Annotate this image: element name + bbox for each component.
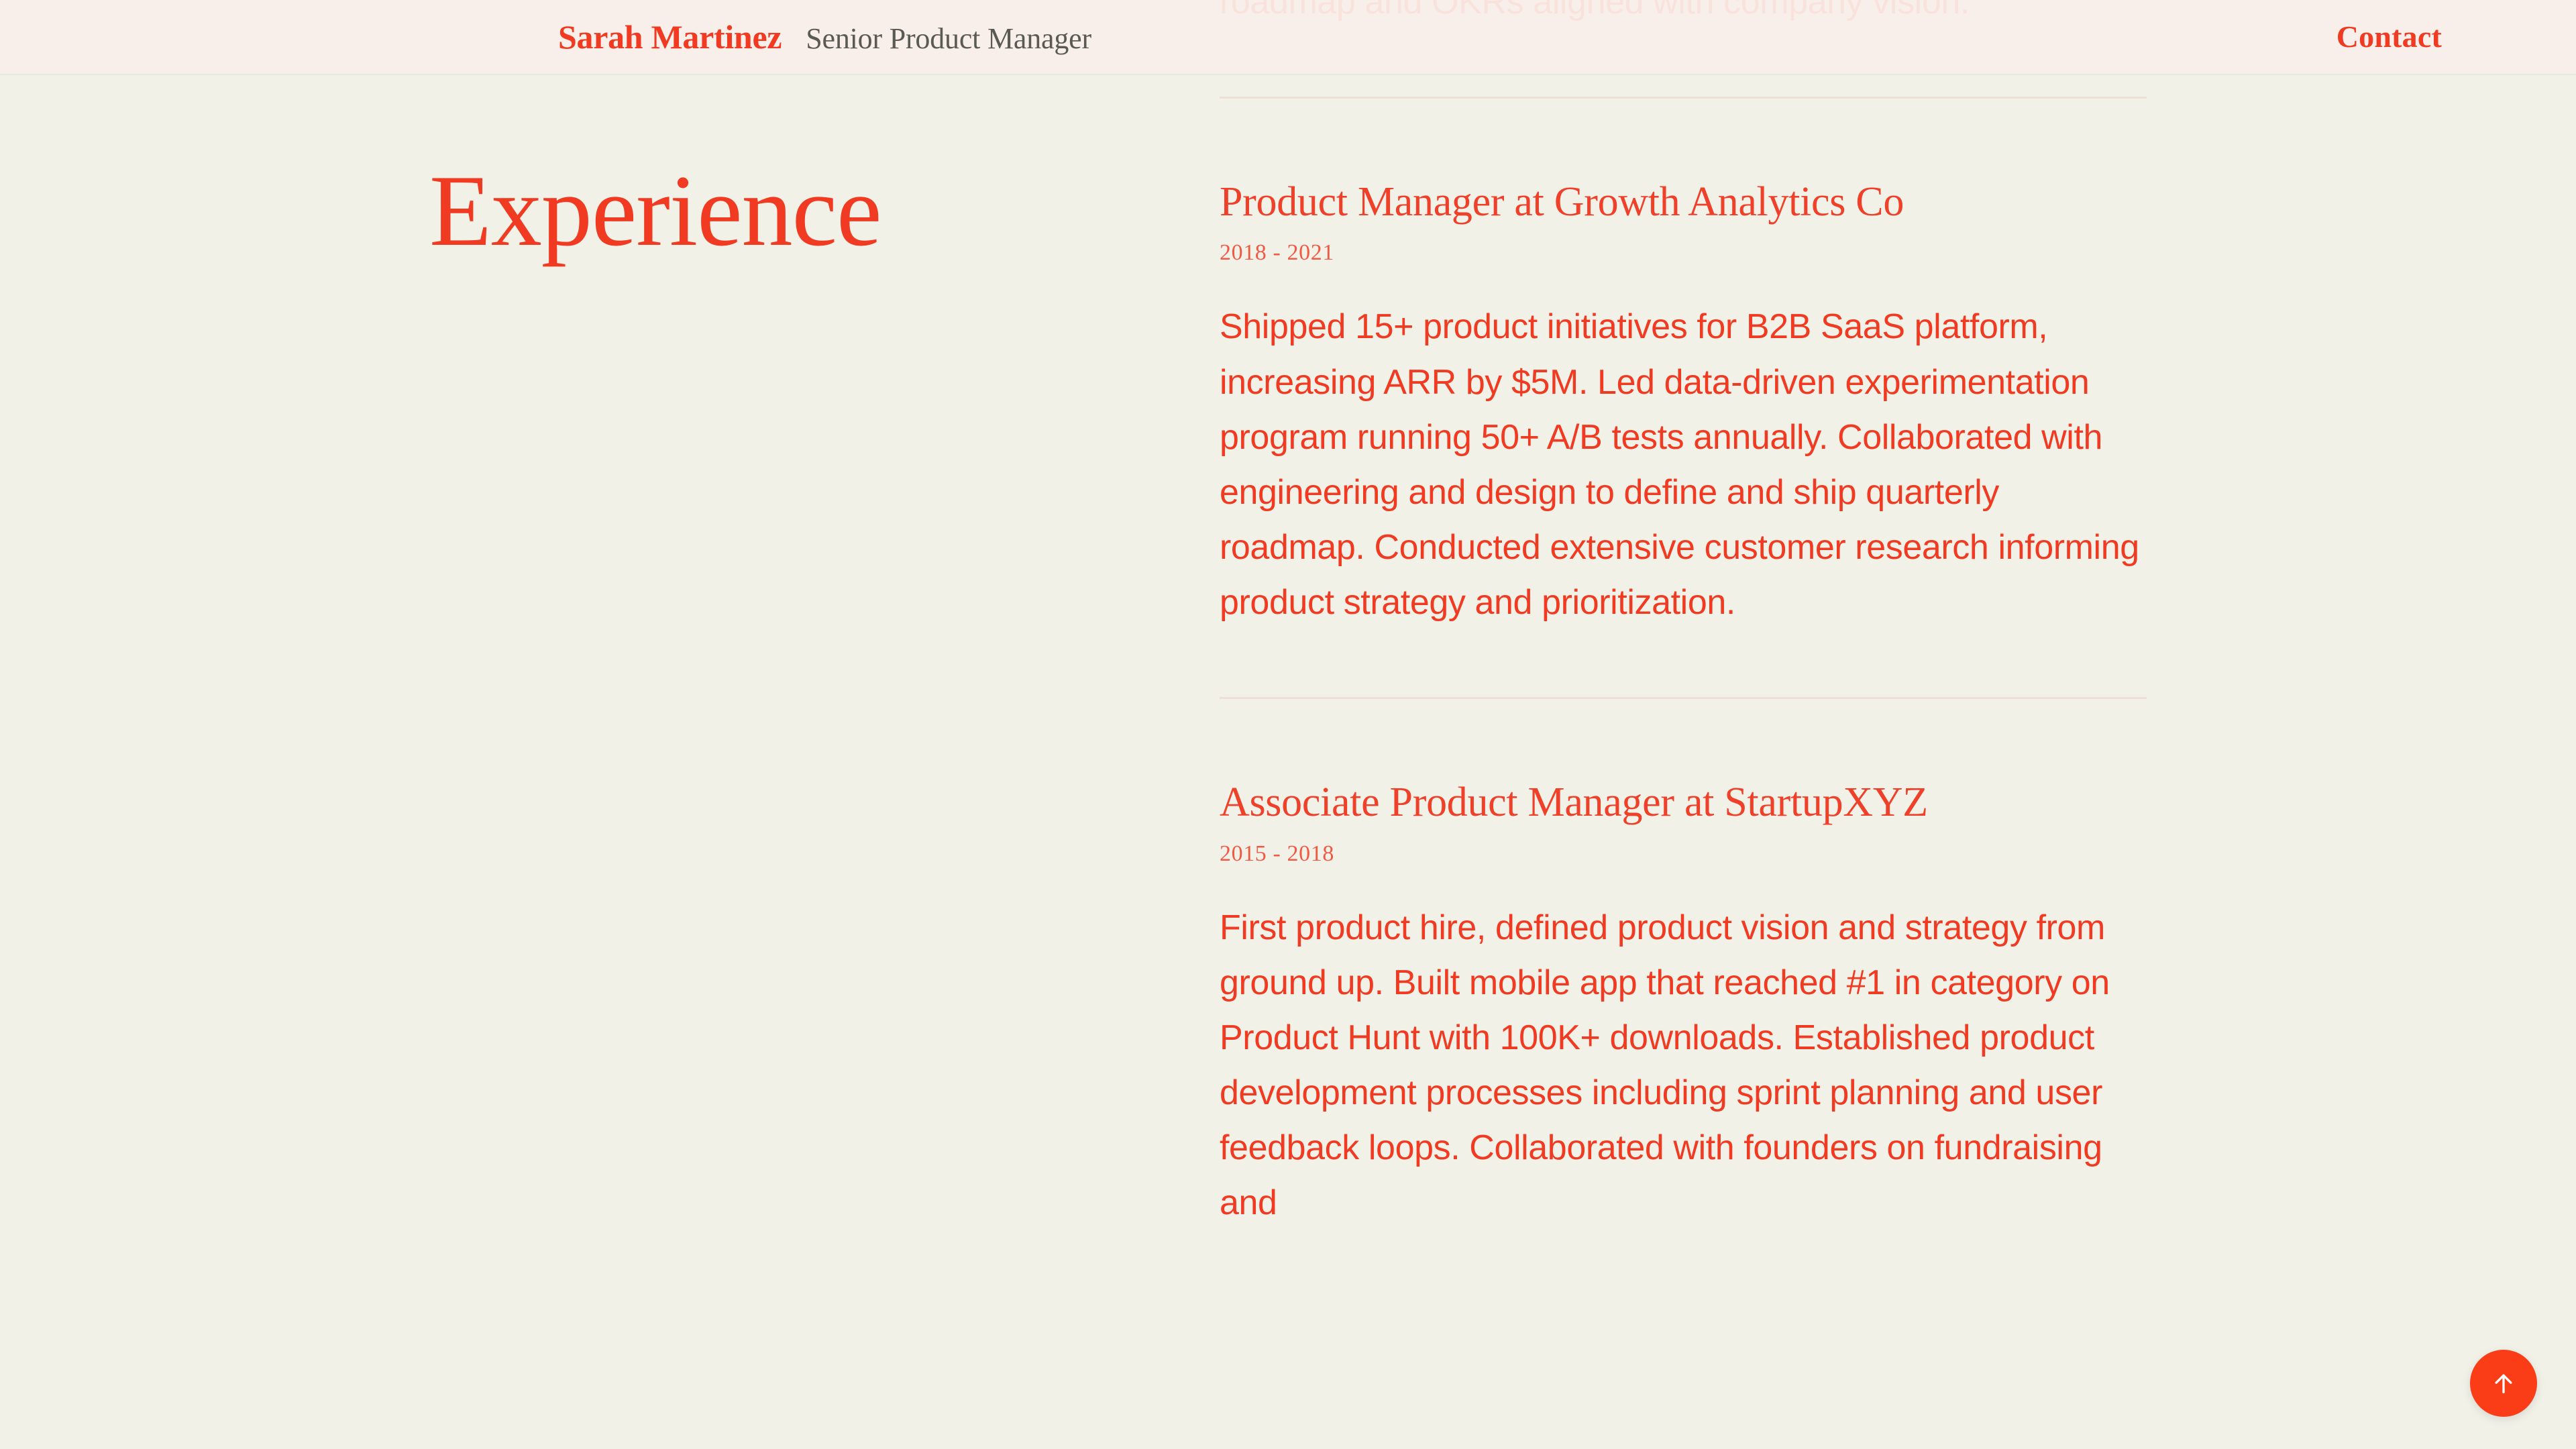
top-navigation-bar: Sarah Martinez Senior Product Manager Co… [0, 0, 2576, 75]
page-title: Experience [429, 160, 881, 262]
entry-description: First product hire, defined product visi… [1220, 900, 2147, 1231]
entry-description: Shipped 15+ product initiatives for B2B … [1220, 299, 2147, 630]
entry-dates: 2015 - 2018 [1220, 843, 2147, 865]
brand-name[interactable]: Sarah Martinez [558, 20, 782, 54]
page-content: engineers, designers, and analysts. Defi… [0, 0, 2576, 1449]
entry-title: Product Manager at Growth Analytics Co [1220, 178, 2147, 227]
arrow-up-icon [2490, 1370, 2517, 1397]
brand-group[interactable]: Sarah Martinez Senior Product Manager [558, 20, 1091, 54]
scroll-to-top-button[interactable] [2470, 1350, 2537, 1417]
experience-entry: Associate Product Manager at StartupXYZ … [1220, 778, 2147, 1230]
nav-link-contact[interactable]: Contact [2337, 21, 2442, 52]
entry-title: Associate Product Manager at StartupXYZ [1220, 778, 2147, 827]
entry-divider [1220, 97, 2147, 99]
brand-role: Senior Product Manager [806, 24, 1091, 54]
experience-entries-column: engineers, designers, and analysts. Defi… [1220, 0, 2147, 1231]
experience-entry: Product Manager at Growth Analytics Co 2… [1220, 178, 2147, 699]
entry-dates: 2018 - 2021 [1220, 241, 2147, 264]
entry-divider [1220, 697, 2147, 699]
